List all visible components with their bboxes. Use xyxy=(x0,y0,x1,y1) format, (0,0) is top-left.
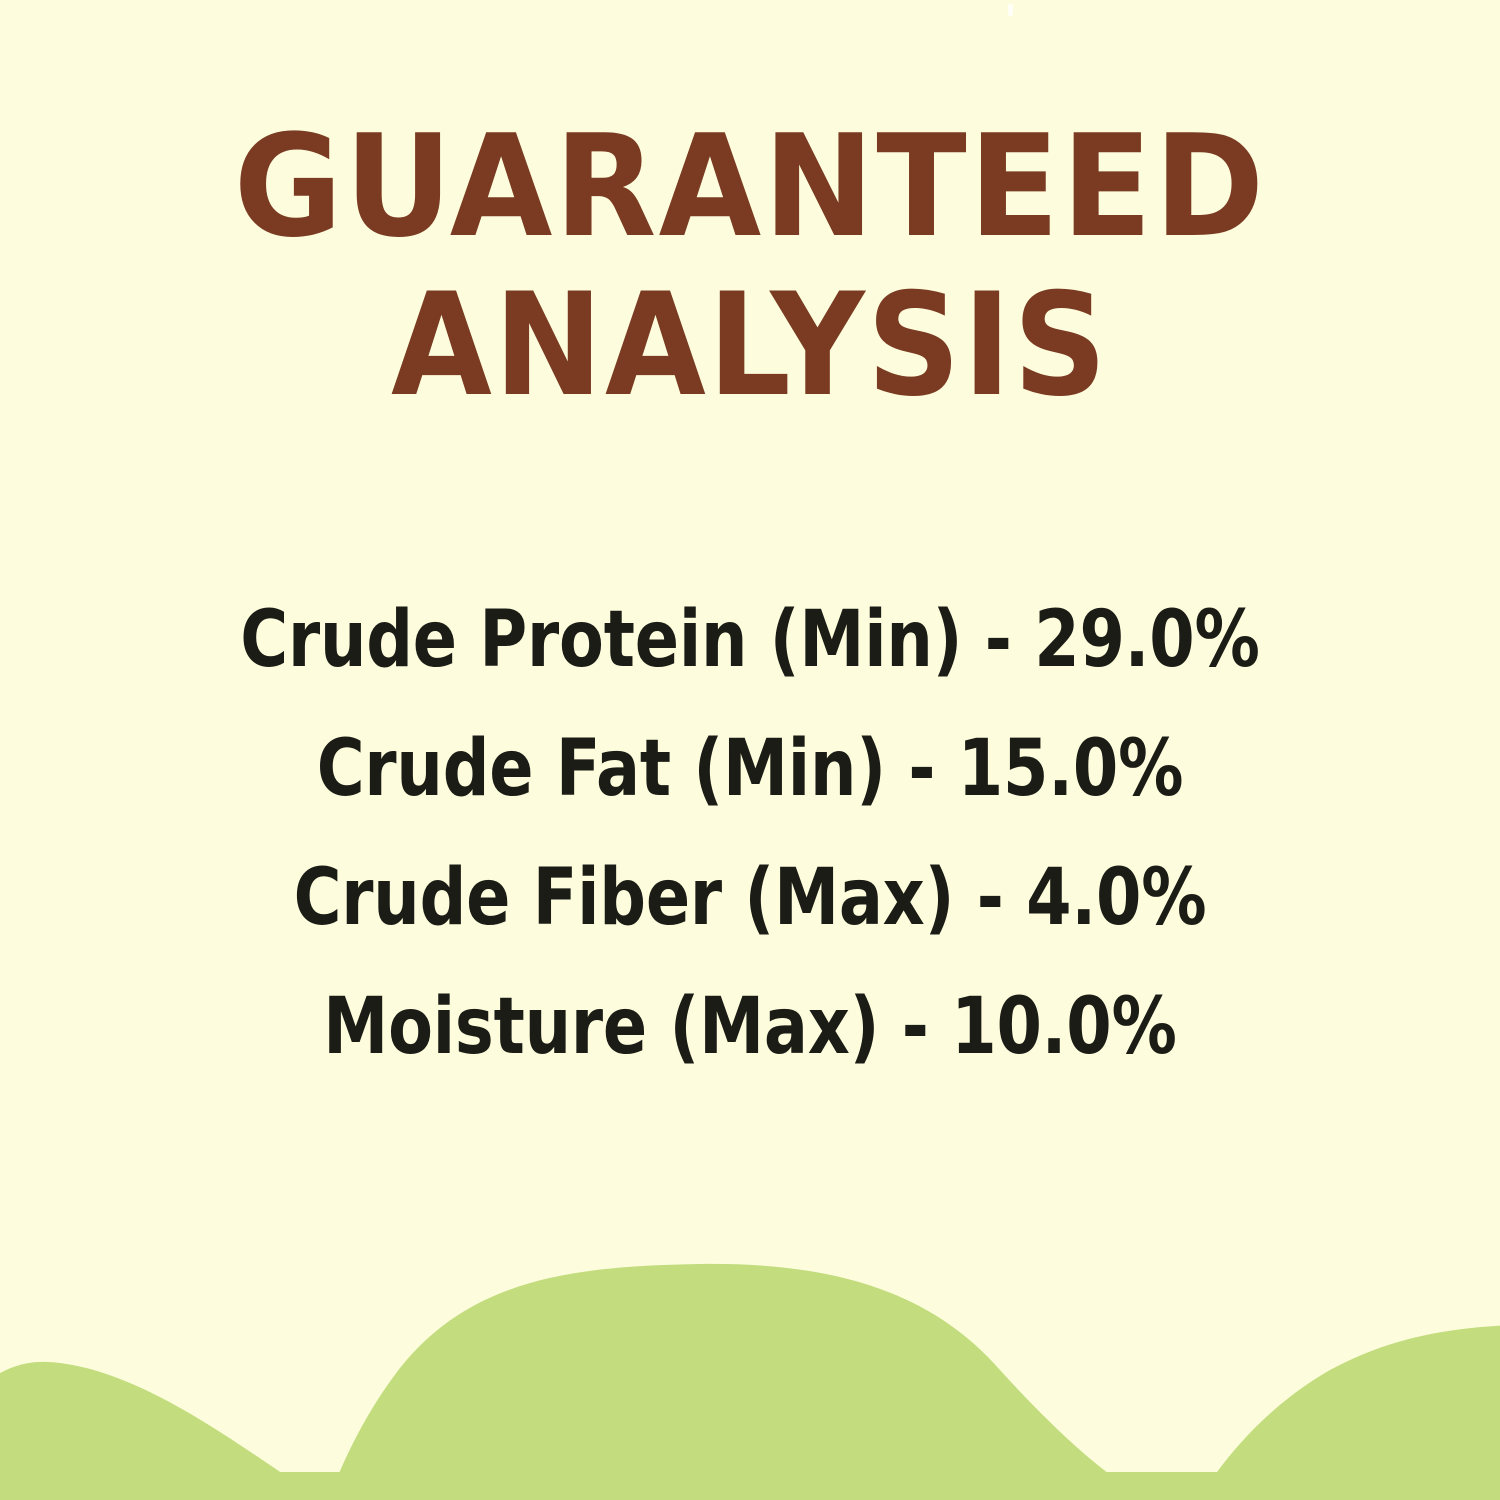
analysis-row-crude-fiber: Crude Fiber (Max) - 4.0% xyxy=(53,834,1448,963)
page-title-line-2: Analysis xyxy=(0,276,1500,415)
green-rolling-hills-decoration xyxy=(0,1220,1500,1500)
page-title: Guaranteed Analysis xyxy=(0,118,1500,415)
analysis-row-crude-protein: Crude Protein (Min) - 29.0% xyxy=(53,576,1448,705)
top-speck-artifact xyxy=(1008,4,1013,16)
page-title-line-1: Guaranteed xyxy=(0,118,1500,256)
analysis-row-crude-fat: Crude Fat (Min) - 15.0% xyxy=(53,705,1448,834)
hill-shape-center xyxy=(328,1264,1150,1500)
guaranteed-analysis-list: Crude Protein (Min) - 29.0% Crude Fat (M… xyxy=(0,576,1500,1092)
guaranteed-analysis-panel: Guaranteed Analysis Crude Protein (Min) … xyxy=(0,0,1500,1500)
analysis-row-moisture: Moisture (Max) - 10.0% xyxy=(53,963,1448,1092)
hill-base-band xyxy=(0,1472,1500,1500)
